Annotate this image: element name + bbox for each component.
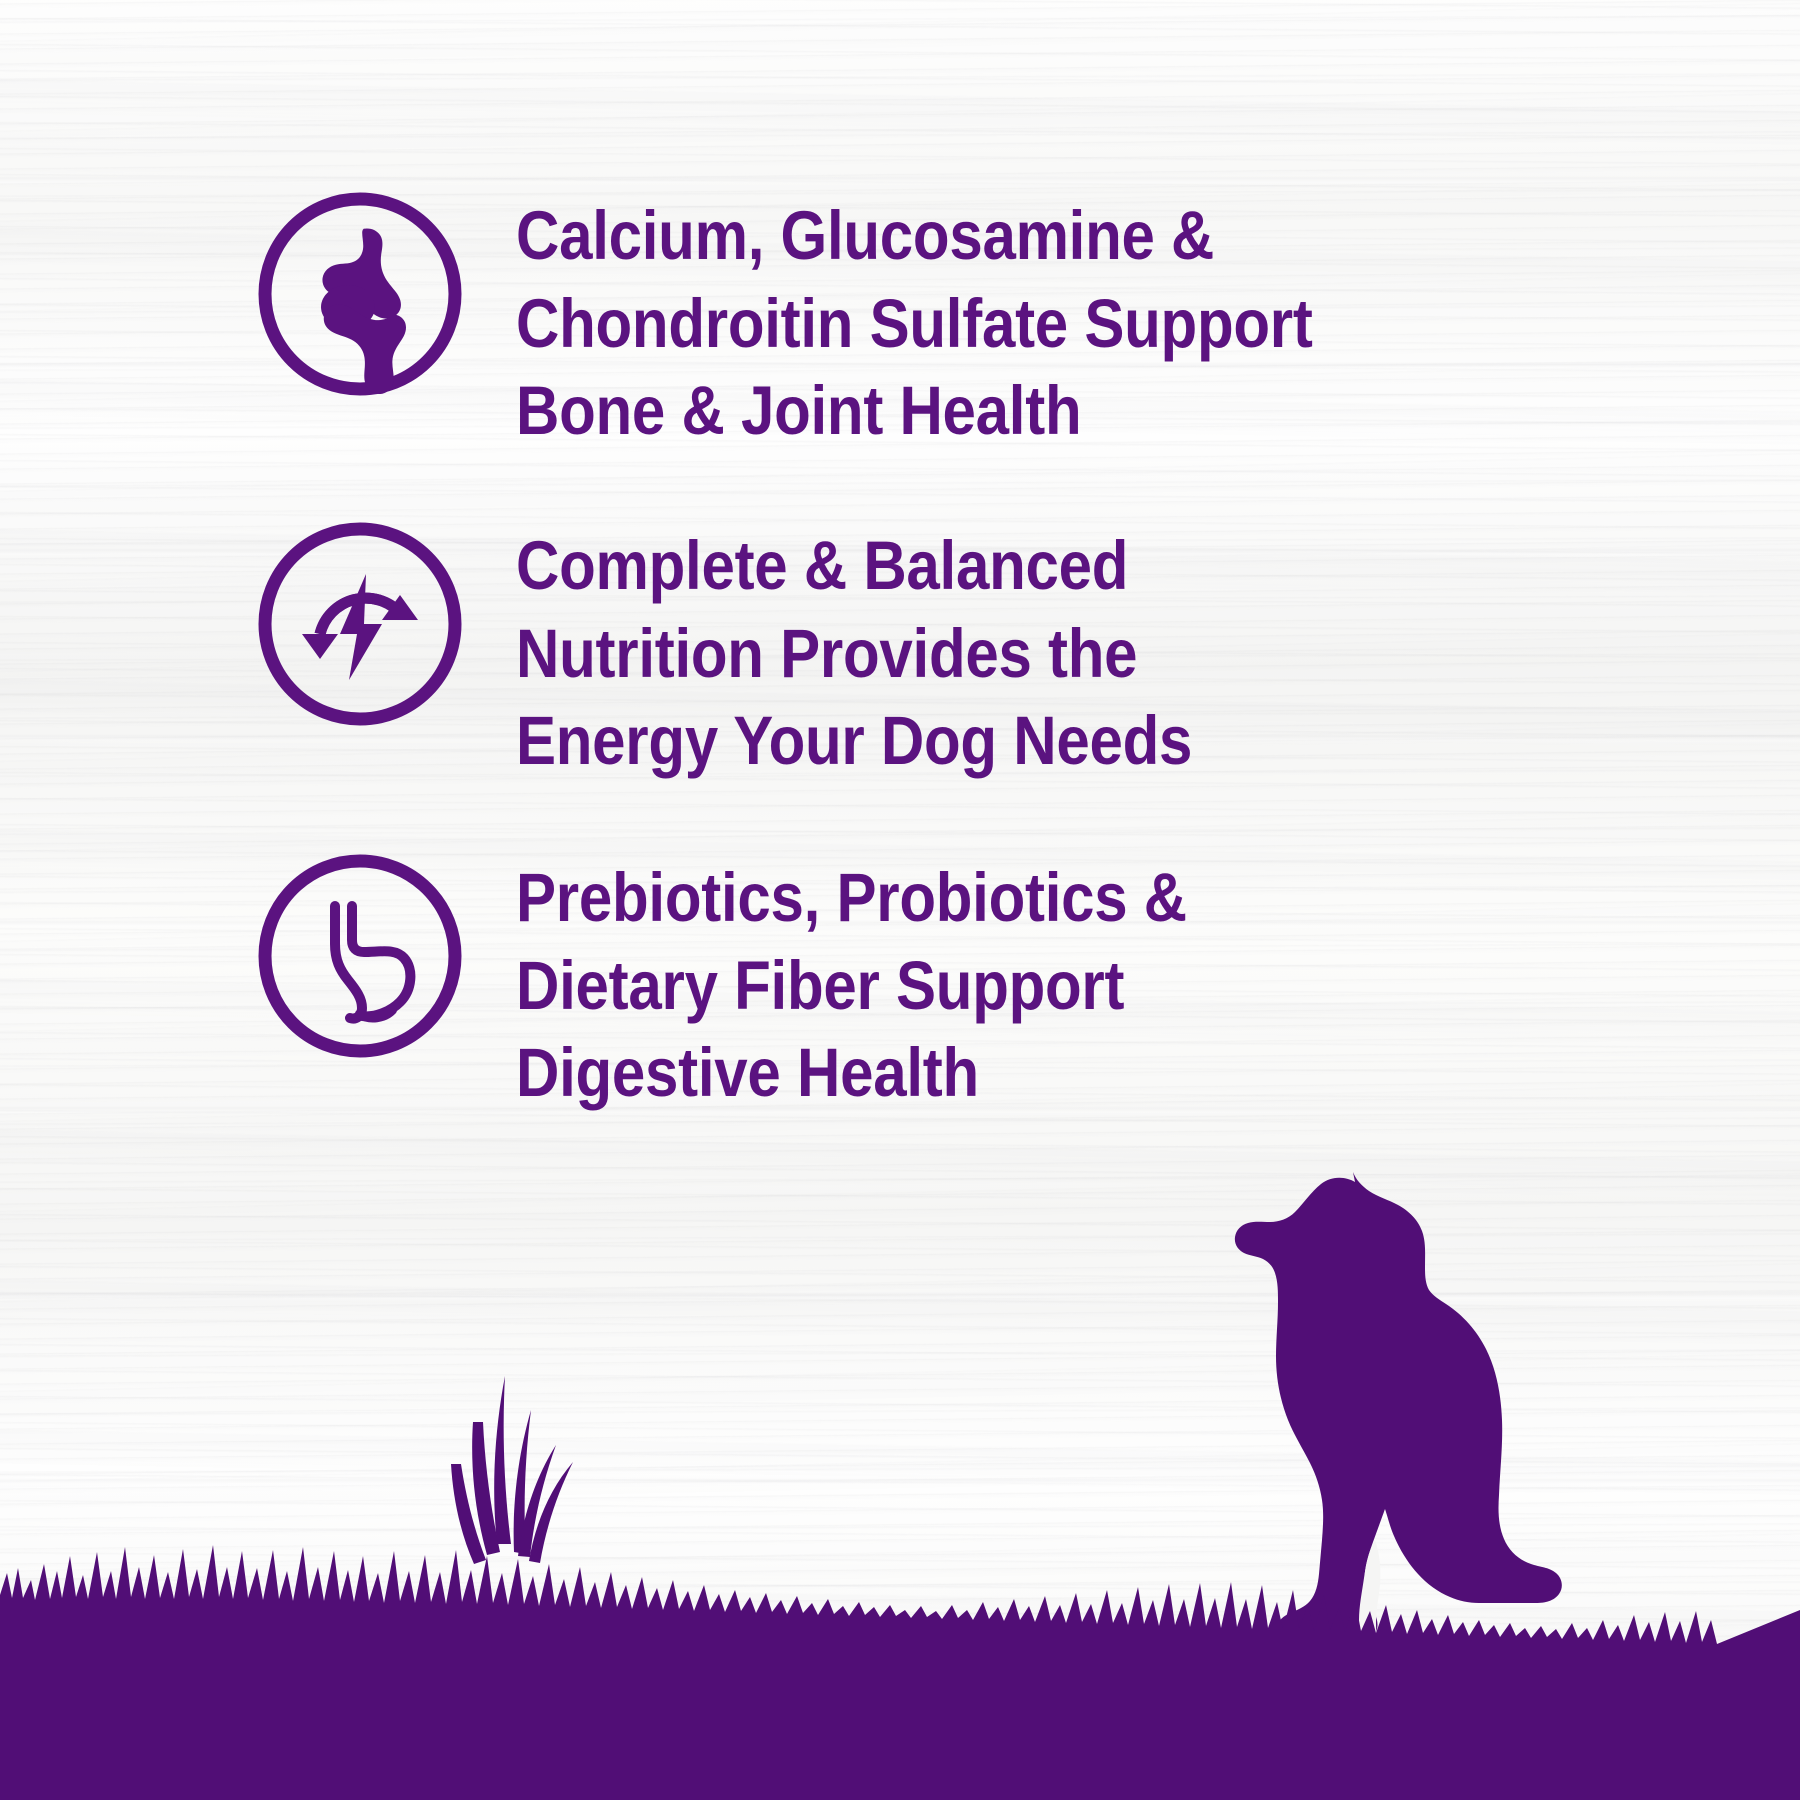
product-benefits-poster: Calcium, Glucosamine & Chondroitin Sulfa… xyxy=(0,0,1800,1800)
energy-cycle-icon xyxy=(252,516,468,732)
feature-text: Calcium, Glucosamine & Chondroitin Sulfa… xyxy=(516,192,1313,455)
dog-silhouette xyxy=(1235,1172,1562,1649)
stomach-icon xyxy=(252,848,468,1064)
feature-row: Calcium, Glucosamine & Chondroitin Sulfa… xyxy=(252,186,1432,455)
feature-row: Prebiotics, Probiotics & Dietary Fiber S… xyxy=(252,848,1287,1117)
feature-text: Complete & Balanced Nutrition Provides t… xyxy=(516,522,1192,785)
bone-joint-icon xyxy=(252,186,468,402)
scenery xyxy=(0,1140,1800,1800)
feature-row: Complete & Balanced Nutrition Provides t… xyxy=(252,516,1293,785)
feature-text: Prebiotics, Probiotics & Dietary Fiber S… xyxy=(516,854,1187,1117)
grass-tuft-silhouette xyxy=(451,1376,573,1564)
